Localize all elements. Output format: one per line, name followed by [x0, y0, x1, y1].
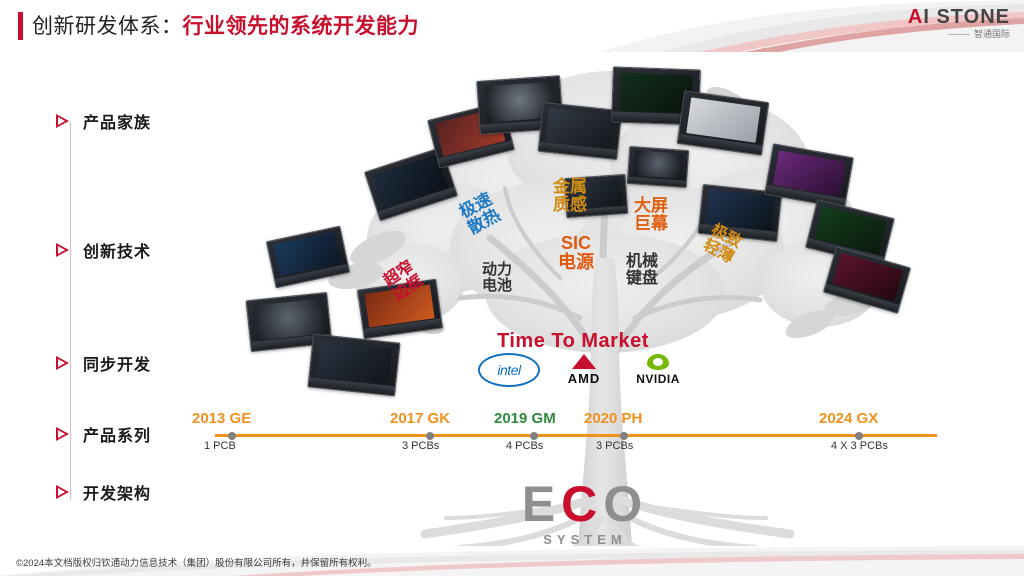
logo-letter-a: A [908, 6, 923, 28]
laptop-screen [546, 108, 615, 148]
timeline-axis [215, 434, 937, 437]
logo-subtitle: 智通国际 [974, 29, 1010, 39]
slide-root: 创新研发体系：行业领先的系统开发能力 AI STONE 智通国际 产品家族创新技… [0, 0, 1024, 576]
eco-letter-e: E [522, 476, 561, 532]
logo-rule [948, 34, 970, 35]
logo-wordmark-rest: I STONE [923, 6, 1010, 28]
timeline-pcb-label: 4 X 3 PCBs [831, 440, 888, 452]
logo-subtitle-row: 智通国际 [880, 28, 1010, 40]
tree-keyword-3: 大屏 巨幕 [634, 197, 668, 233]
timeline-year-label: 2019 GM [494, 410, 556, 427]
eco-system-subtitle: SYSTEM [470, 532, 700, 547]
timeline-node[interactable] [228, 432, 236, 440]
amd-logo-text: AMD [568, 371, 601, 386]
title-accent-bar [18, 12, 23, 40]
logo-wordmark: AI STONE [880, 6, 1010, 28]
rail-item-2[interactable]: 创新技术 [56, 237, 151, 263]
laptop-screen [633, 151, 683, 180]
triangle-icon [56, 356, 74, 371]
laptop-thumbnail [307, 334, 400, 397]
timeline-pcb-label: 4 PCBs [506, 440, 543, 452]
timeline-year-label: 2020 PH [584, 410, 642, 427]
timeline-year-label: 2024 GX [819, 410, 878, 427]
tree-illustration: 极速 散热金属 质感大屏 巨幕SIC 电源动力 电池机械 键盘超窄 边框极致 轻… [210, 48, 1000, 548]
timeline-pcb-label: 1 PCB [204, 440, 236, 452]
eco-wordmark: ECO [470, 478, 700, 530]
company-logo: AI STONE 智通国际 [880, 6, 1010, 46]
timeline-pcb-label: 3 PCBs [402, 440, 439, 452]
time-to-market-label: Time To Market [497, 330, 649, 353]
rail-item-label: 同步开发 [83, 351, 151, 375]
tree-keyword-6: 机械 键盘 [626, 254, 658, 288]
laptop-thumbnail [627, 146, 690, 188]
triangle-icon [56, 485, 74, 500]
chip-vendor-row: intel AMD NVIDIA [478, 352, 688, 388]
laptop-screen [316, 340, 392, 384]
rail-item-4[interactable]: 产品系列 [56, 421, 151, 447]
nvidia-eye-icon [647, 354, 669, 370]
timeline-node[interactable] [855, 432, 863, 440]
rail-item-label: 开发架构 [83, 480, 151, 504]
triangle-icon [56, 427, 74, 442]
timeline-year-label: 2013 GE [192, 410, 251, 427]
footer-copyright: ©2024本文档版权归钦通动力信息技术（集团）股份有限公司所有，并保留所有权利。 [16, 555, 377, 569]
page-title-highlight: 行业领先的系统开发能力 [183, 15, 420, 38]
nvidia-logo-text: NVIDIA [636, 372, 680, 386]
nvidia-logo: NVIDIA [628, 354, 688, 386]
rail-item-1[interactable]: 产品家族 [56, 108, 151, 134]
amd-triangle-icon [572, 354, 596, 369]
eco-letter-c: C [561, 476, 603, 532]
footer-band: ©2024本文档版权归钦通动力信息技术（集团）股份有限公司所有，并保留所有权利。 [0, 546, 1024, 576]
intel-logo: intel [478, 353, 540, 387]
triangle-icon [56, 243, 74, 258]
timeline-node[interactable] [530, 432, 538, 440]
tree-keyword-4: SIC 电源 [558, 234, 594, 272]
tree-keyword-5: 动力 电池 [482, 262, 512, 294]
page-title: 创新研发体系：行业领先的系统开发能力 [32, 10, 419, 40]
timeline-year-label: 2017 GK [390, 410, 450, 427]
timeline-node[interactable] [426, 432, 434, 440]
timeline-pcb-label: 3 PCBs [596, 440, 633, 452]
timeline-node[interactable] [620, 432, 628, 440]
header-band: 创新研发体系：行业领先的系统开发能力 AI STONE 智通国际 [0, 0, 1024, 52]
page-title-main: 创新研发体系： [32, 15, 183, 38]
amd-logo: AMD [556, 354, 612, 386]
rail-item-label: 创新技术 [83, 238, 151, 262]
rail-item-5[interactable]: 开发架构 [56, 479, 151, 505]
triangle-icon [56, 114, 74, 129]
laptop-thumbnail [538, 102, 623, 160]
eco-letter-o: O [603, 476, 648, 532]
eco-system-logo: ECO SYSTEM [470, 478, 700, 547]
tree-keyword-2: 金属 质感 [553, 178, 587, 214]
rail-item-label: 产品家族 [83, 109, 151, 133]
rail-item-label: 产品系列 [83, 422, 151, 446]
rail-item-3[interactable]: 同步开发 [56, 350, 151, 376]
